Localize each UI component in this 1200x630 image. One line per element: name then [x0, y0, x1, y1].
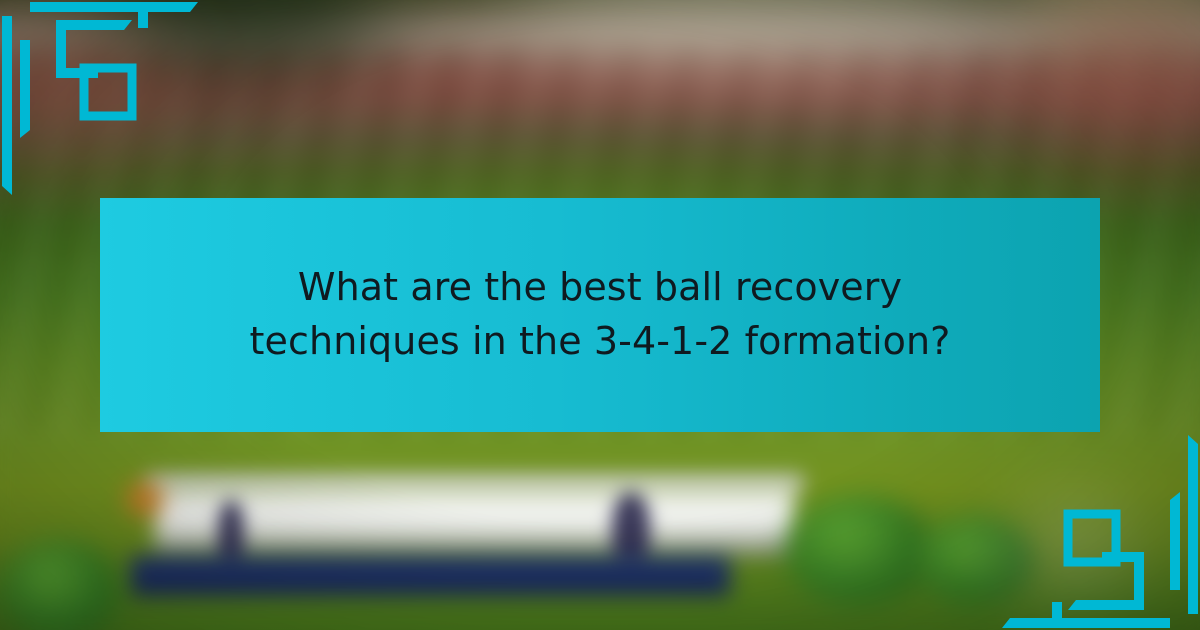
page-title: What are the best ball recovery techniqu…: [200, 261, 1000, 369]
social-card: What are the best ball recovery techniqu…: [0, 0, 1200, 630]
headline-banner: What are the best ball recovery techniqu…: [100, 198, 1100, 432]
